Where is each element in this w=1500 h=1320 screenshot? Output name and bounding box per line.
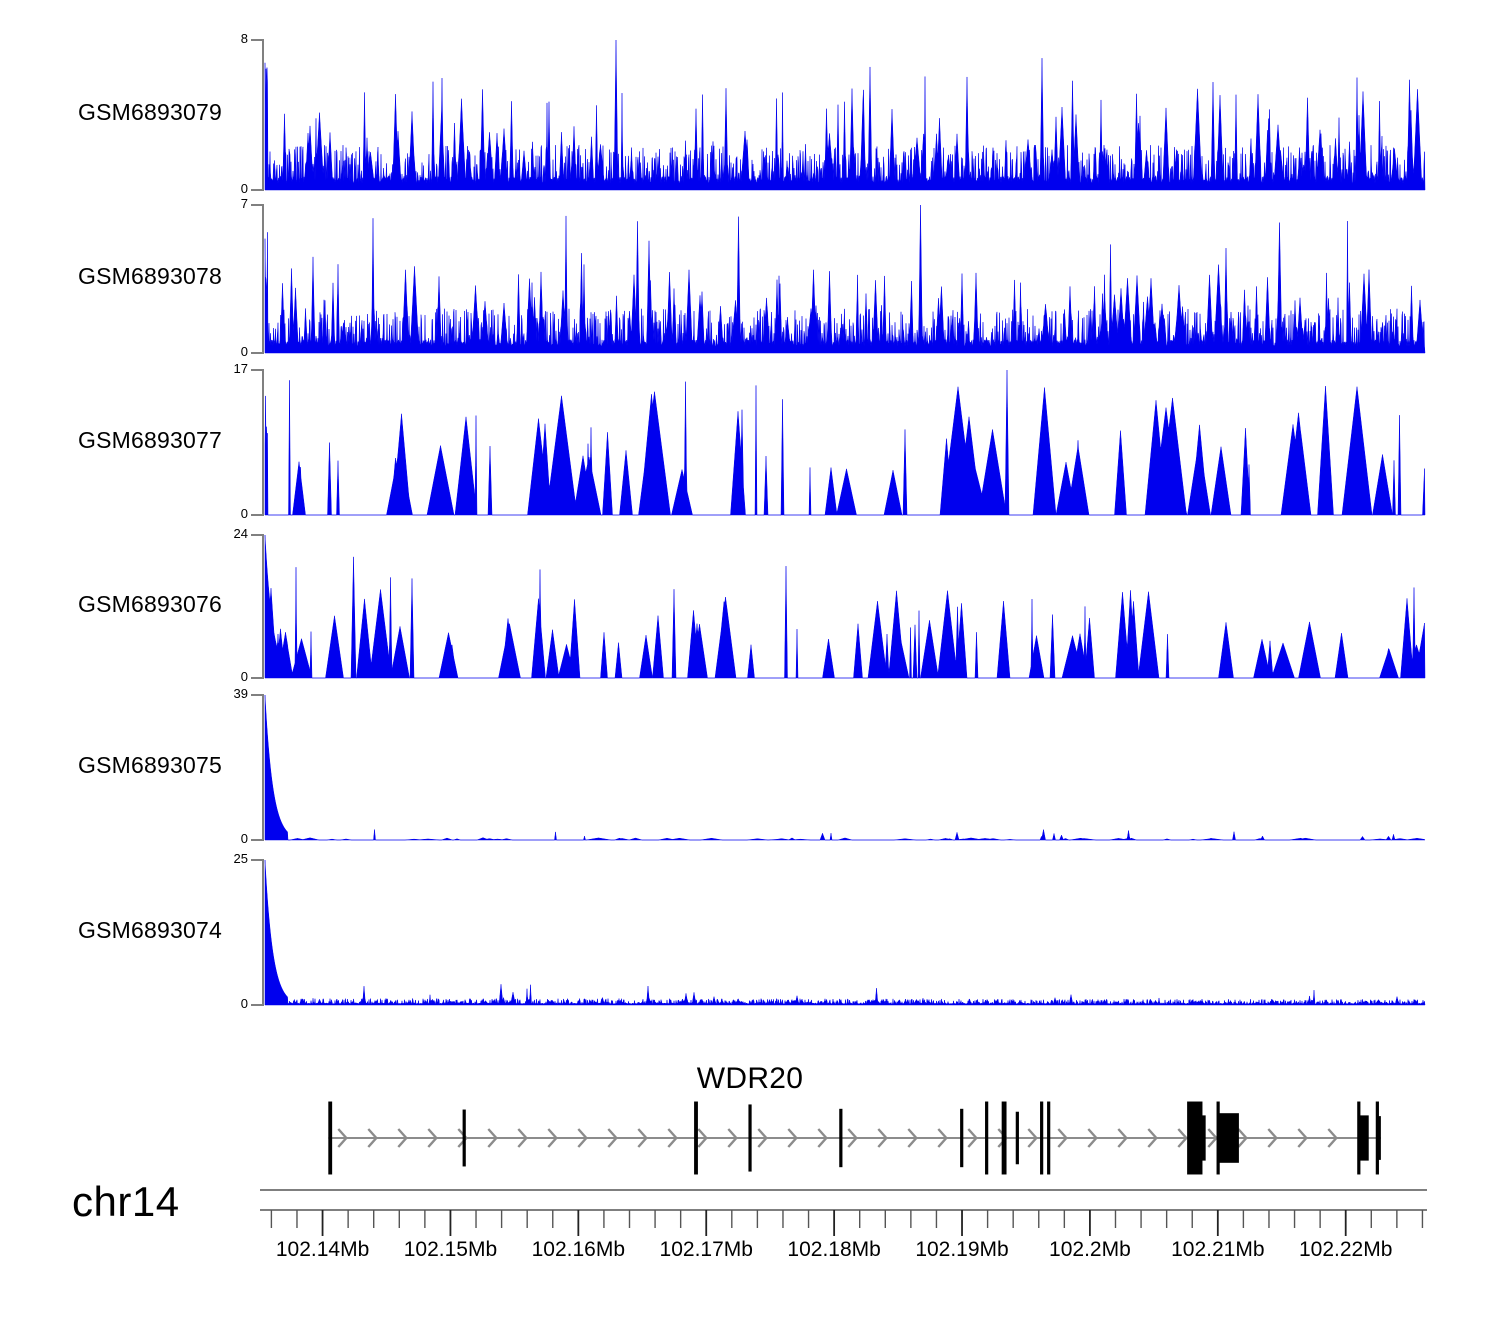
ruler-tick-label: 102.14Mb [276, 1238, 369, 1262]
y-axis-min-label: 0 [188, 506, 248, 521]
genome-browser-canvas: GSM689307980GSM689307870GSM6893077170GSM… [0, 0, 1500, 1320]
genome-coordinate-ruler[interactable] [0, 1186, 1500, 1246]
y-axis-min-label: 0 [188, 181, 248, 196]
exon-block[interactable] [1047, 1102, 1050, 1175]
y-axis-min-label: 0 [188, 996, 248, 1011]
exon-block[interactable] [328, 1102, 332, 1175]
ruler-tick-label: 102.19Mb [915, 1238, 1008, 1262]
exon-block[interactable] [839, 1109, 842, 1167]
exon-block[interactable] [1196, 1115, 1206, 1160]
y-axis-max-label: 39 [188, 686, 248, 701]
exon-block[interactable] [1376, 1116, 1380, 1160]
ruler-tick-label: 102.2Mb [1049, 1238, 1131, 1262]
ruler-tick-label: 102.21Mb [1171, 1238, 1264, 1262]
exon-block[interactable] [694, 1102, 698, 1175]
y-axis-max-label: 17 [188, 361, 248, 376]
y-axis-min-label: 0 [188, 669, 248, 684]
track-label-GSM6893074: GSM6893074 [78, 917, 222, 944]
ruler-tick-label: 102.17Mb [660, 1238, 753, 1262]
chromosome-label: chr14 [72, 1178, 180, 1226]
exon-block[interactable] [748, 1104, 751, 1171]
ruler-tick-label: 102.18Mb [787, 1238, 880, 1262]
ruler-tick-label: 102.16Mb [532, 1238, 625, 1262]
ruler-tick-label: 102.22Mb [1299, 1238, 1392, 1262]
exon-block[interactable] [1040, 1102, 1043, 1175]
track-label-GSM6893078: GSM6893078 [78, 263, 222, 290]
ruler-tick-label: 102.15Mb [404, 1238, 497, 1262]
y-axis-min-label: 0 [188, 344, 248, 359]
track-label-GSM6893076: GSM6893076 [78, 591, 222, 618]
track-label-GSM6893075: GSM6893075 [78, 752, 222, 779]
exon-block[interactable] [1016, 1112, 1019, 1165]
exon-block[interactable] [463, 1110, 466, 1167]
y-axis-max-label: 24 [188, 526, 248, 541]
exon-block[interactable] [1002, 1102, 1007, 1175]
y-axis-min-label: 0 [188, 831, 248, 846]
track-label-GSM6893077: GSM6893077 [78, 427, 222, 454]
y-axis-max-label: 8 [188, 31, 248, 46]
track-label-GSM6893079: GSM6893079 [78, 99, 222, 126]
exon-block[interactable] [985, 1102, 988, 1175]
exon-block[interactable] [1218, 1113, 1238, 1163]
y-axis-max-label: 25 [188, 851, 248, 866]
exon-block[interactable] [960, 1109, 963, 1167]
y-axis-max-label: 7 [188, 196, 248, 211]
exon-block[interactable] [1359, 1115, 1369, 1160]
gene-name-title: WDR20 [0, 1062, 1500, 1096]
